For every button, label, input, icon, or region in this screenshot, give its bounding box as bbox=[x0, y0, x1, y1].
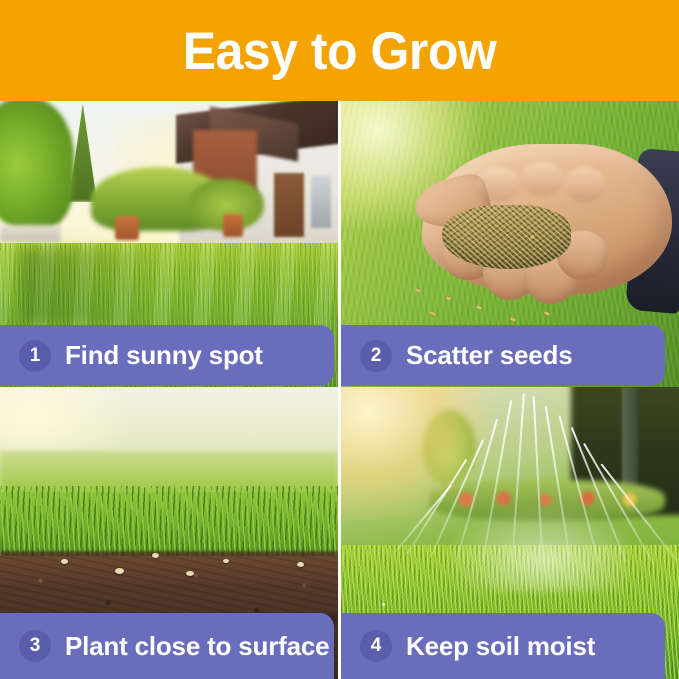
step-badge-4: 4 bbox=[360, 630, 392, 662]
step-label-text-4: Keep soil moist bbox=[406, 631, 595, 662]
infographic-page: Easy to Grow bbox=[0, 0, 679, 679]
step-label-1: 1 Find sunny spot bbox=[0, 325, 334, 386]
step-label-text-2: Scatter seeds bbox=[406, 340, 573, 371]
step-label-text-1: Find sunny spot bbox=[65, 340, 263, 371]
step-label-4: 4 Keep soil moist bbox=[341, 613, 665, 679]
header-banner: Easy to Grow bbox=[0, 0, 679, 101]
page-title: Easy to Grow bbox=[183, 24, 497, 77]
step-label-2: 2 Scatter seeds bbox=[341, 325, 665, 386]
step-badge-3: 3 bbox=[19, 630, 51, 662]
step-label-3: 3 Plant close to surface bbox=[0, 613, 334, 679]
grid-divider bbox=[338, 98, 341, 679]
step-label-text-3: Plant close to surface bbox=[65, 631, 329, 662]
step-badge-1: 1 bbox=[19, 340, 51, 372]
step-badge-2: 2 bbox=[360, 340, 392, 372]
